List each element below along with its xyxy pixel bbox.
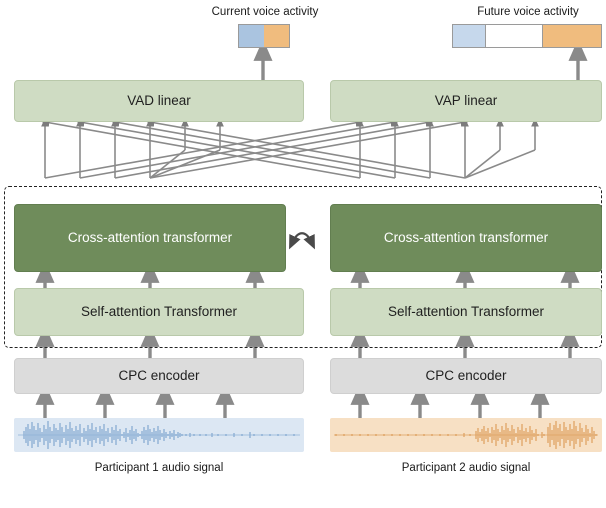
cpc-encoder-right-label: CPC encoder bbox=[425, 368, 506, 385]
future-activity-label: Future voice activity bbox=[452, 6, 604, 18]
cpc-encoder-left: CPC encoder bbox=[14, 358, 304, 394]
current-voice-activity-bar bbox=[238, 24, 290, 48]
vap-linear-block: VAP linear bbox=[330, 80, 602, 122]
future-activity-segment-orange bbox=[543, 25, 601, 47]
participant2-caption: Participant 2 audio signal bbox=[330, 462, 602, 474]
self-attention-transformer-right: Self-attention Transformer bbox=[330, 288, 602, 336]
vap-linear-label: VAP linear bbox=[435, 93, 498, 110]
cross-attention-transformer-left: Cross-attention transformer bbox=[14, 204, 286, 272]
cross-attention-transformer-right: Cross-attention transformer bbox=[330, 204, 602, 272]
participant1-waveform bbox=[14, 418, 304, 452]
self-attention-transformer-left: Self-attention Transformer bbox=[14, 288, 304, 336]
current-activity-label: Current voice activity bbox=[185, 6, 345, 18]
cpc-encoder-right: CPC encoder bbox=[330, 358, 602, 394]
architecture-diagram: Current voice activity Future voice acti… bbox=[0, 0, 606, 508]
participant2-waveform bbox=[330, 418, 602, 452]
current-activity-segment-orange bbox=[264, 25, 289, 47]
self-attention-right-label: Self-attention Transformer bbox=[388, 304, 544, 321]
future-activity-segment-blue bbox=[453, 25, 485, 47]
cross-attention-left-label: Cross-attention transformer bbox=[68, 230, 232, 247]
participant2-waveform-graphic bbox=[330, 418, 602, 452]
cross-attention-right-label: Cross-attention transformer bbox=[384, 230, 548, 247]
future-voice-activity-bar bbox=[452, 24, 602, 48]
vad-linear-label: VAD linear bbox=[127, 93, 191, 110]
self-attention-left-label: Self-attention Transformer bbox=[81, 304, 237, 321]
cpc-encoder-left-label: CPC encoder bbox=[118, 368, 199, 385]
future-activity-segment-silence bbox=[485, 25, 542, 47]
participant1-waveform-graphic bbox=[14, 418, 304, 452]
participant1-caption: Participant 1 audio signal bbox=[14, 462, 304, 474]
current-activity-segment-blue bbox=[239, 25, 264, 47]
vad-linear-block: VAD linear bbox=[14, 80, 304, 122]
